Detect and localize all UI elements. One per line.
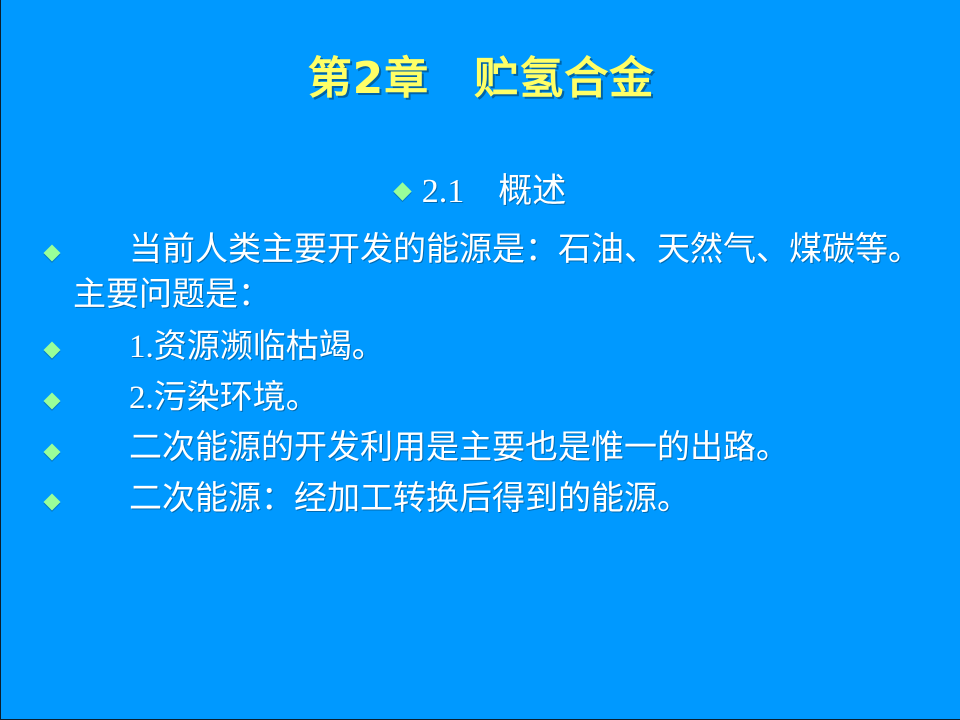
subtitle-text: 2.1 概述	[422, 172, 567, 211]
list-item: 1.资源濒临枯竭。	[1, 325, 960, 370]
list-item-text: 当前人类主要开发的能源是：石油、天然气、煤碳等。主要问题是：	[73, 228, 933, 317]
bullet-list: 当前人类主要开发的能源是：石油、天然气、煤碳等。主要问题是： 1.资源濒临枯竭。…	[1, 228, 960, 527]
diamond-bullet-icon	[46, 442, 58, 460]
presentation-slide: 第2章 贮氢合金 2.1 概述 当前人类主要开发的能源是：石油、天然气、煤碳等。…	[0, 0, 960, 720]
diamond-bullet-icon	[46, 392, 58, 410]
slide-title: 第2章 贮氢合金	[308, 55, 655, 103]
diamond-bullet-icon	[393, 182, 411, 200]
subtitle-row: 2.1 概述	[1, 172, 960, 211]
list-item-text: 1.资源濒临枯竭。	[73, 325, 933, 370]
list-item-text: 二次能源的开发利用是主要也是惟一的出路。	[73, 426, 933, 471]
list-item-text: 二次能源：经加工转换后得到的能源。	[73, 477, 933, 522]
diamond-bullet-icon	[46, 244, 58, 262]
list-item-text: 2.污染环境。	[73, 376, 933, 421]
list-item: 二次能源：经加工转换后得到的能源。	[1, 477, 960, 522]
slide-title-block: 第2章 贮氢合金	[1, 55, 960, 103]
diamond-bullet-icon	[46, 341, 58, 359]
list-item: 二次能源的开发利用是主要也是惟一的出路。	[1, 426, 960, 471]
list-item: 当前人类主要开发的能源是：石油、天然气、煤碳等。主要问题是：	[1, 228, 960, 317]
list-item: 2.污染环境。	[1, 376, 960, 421]
diamond-bullet-icon	[46, 493, 58, 511]
